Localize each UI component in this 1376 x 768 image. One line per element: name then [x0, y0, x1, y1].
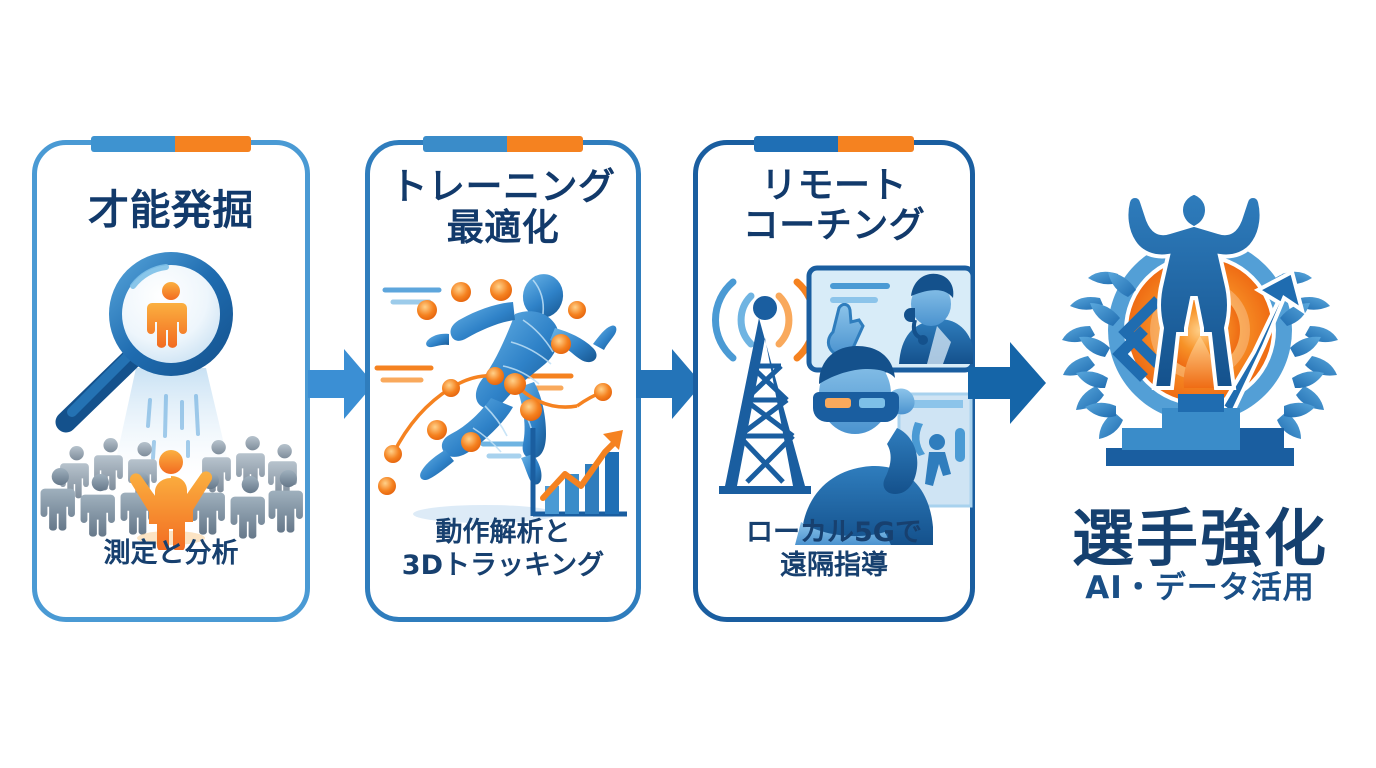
result-block: 選手強化 AI・データ活用 [1040, 180, 1360, 610]
training-illustration [365, 258, 641, 538]
achievement-art-svg [1040, 180, 1360, 490]
notch-orange-segment [175, 136, 251, 152]
talent-discovery-illustration [32, 250, 310, 550]
card-title: 才能発掘 [32, 188, 310, 234]
magnifier-handle-icon [66, 354, 132, 422]
card-title-line: 才能発掘 [32, 188, 310, 234]
infographic-canvas: 才能発掘 [0, 0, 1376, 768]
arrow-right-icon [966, 335, 1048, 431]
card-title: リモート コーチング [693, 166, 975, 247]
card-caption-line: 測定と分析 [32, 538, 310, 570]
flow-card-training-optimization[interactable]: トレーニング 最適化 [365, 140, 641, 622]
ar-glasses-athlete-icon [795, 346, 933, 545]
flow-card-talent-discovery[interactable]: 才能発掘 [32, 140, 310, 622]
card-title: トレーニング 最適化 [365, 166, 641, 249]
antenna-tower-icon [719, 296, 811, 494]
flow-card-remote-coaching[interactable]: リモート コーチング [693, 140, 975, 622]
card-caption: 測定と分析 [32, 538, 310, 570]
card-caption-line: 動作解析と [365, 517, 641, 549]
card-notch [423, 136, 583, 152]
notch-blue-segment [754, 136, 838, 152]
talent-art-svg [32, 250, 310, 550]
card-caption-line: ローカル5Gで [693, 517, 975, 549]
arrow-3 [966, 335, 1048, 431]
card-title-line: 最適化 [365, 207, 641, 248]
card-title-line: コーチング [693, 206, 975, 246]
card-caption: 動作解析と 3Dトラッキング [365, 517, 641, 582]
notch-orange-segment [507, 136, 583, 152]
card-caption-line: 3Dトラッキング [365, 550, 641, 582]
card-caption-line: 遠隔指導 [693, 550, 975, 582]
card-caption: ローカル5Gで 遠隔指導 [693, 517, 975, 582]
ar-glasses-icon [813, 392, 899, 422]
remote-coaching-illustration [693, 260, 975, 545]
card-title-line: トレーニング [365, 166, 641, 207]
coaching-art-svg [693, 260, 975, 545]
result-subtitle: AI・データ活用 [1040, 562, 1360, 607]
podium-icon [1106, 394, 1294, 466]
bar-chart-icon [533, 428, 627, 516]
card-notch [754, 136, 914, 152]
card-notch [91, 136, 251, 152]
card-title-line: リモート [693, 166, 975, 206]
notch-orange-segment [838, 136, 914, 152]
notch-blue-segment [91, 136, 175, 152]
notch-blue-segment [423, 136, 507, 152]
runner-art-svg [365, 258, 641, 538]
